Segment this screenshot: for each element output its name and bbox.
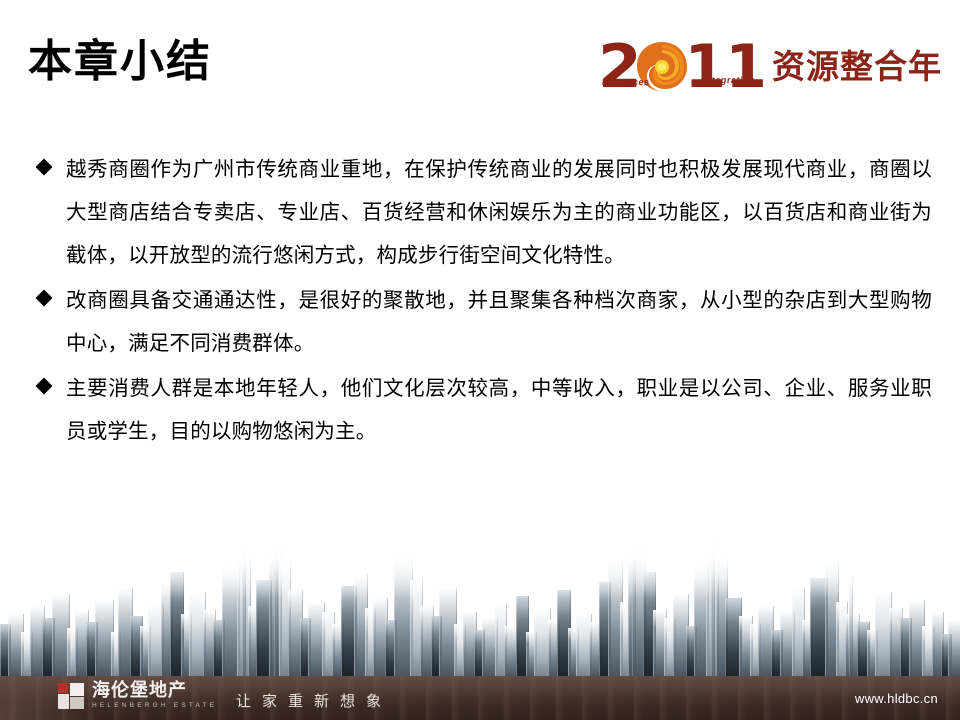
logo-digit-2: 2: [598, 37, 639, 97]
logo-word-resources: resources: [601, 77, 650, 87]
list-item: 主要消费人群是本地年轻人，他们文化层次较高，中等收入，职业是以公司、企业、服务业…: [36, 367, 932, 453]
list-item: 越秀商圈作为广州市传统商业重地，在保护传统商业的发展同时也积极发展现代商业，商圈…: [36, 148, 932, 277]
logo-digits-11: 11: [685, 37, 767, 97]
brand-mark-block-1: [58, 694, 69, 709]
diamond-bullet-icon: [36, 290, 53, 307]
brand-text: 海伦堡地产 HELENBERGH ESTATE: [92, 682, 217, 710]
page-title: 本章小结: [28, 38, 212, 86]
list-item: 改商圈具备交通通达性，是很好的聚散地，并且聚集各种档次商家，从小型的杂店到大型购…: [36, 279, 932, 365]
bullet-list: 越秀商圈作为广州市传统商业重地，在保护传统商业的发展同时也积极发展现代商业，商圈…: [36, 148, 932, 455]
list-item-text: 改商圈具备交通通达性，是很好的聚散地，并且聚集各种档次商家，从小型的杂店到大型购…: [66, 288, 932, 355]
city-skyline-image: [0, 536, 960, 676]
slide-canvas: 本章小结 2 11 resources integration: [0, 0, 960, 720]
helenbergh-mark-icon: [58, 683, 84, 709]
brand-name-en: HELENBERGH ESTATE: [92, 703, 217, 710]
diamond-bullet-icon: [36, 159, 53, 176]
footer-slogan: 让家重新想象: [236, 690, 392, 711]
logo-chinese-text: 资源整合年: [772, 50, 942, 85]
brand-mark-block-3: [70, 697, 84, 709]
logo-2011-resource-integration: 2 11 resources integration 资源整合年: [599, 36, 942, 98]
brand-mark-red-square: [58, 683, 68, 693]
list-item-text: 主要消费人群是本地年轻人，他们文化层次较高，中等收入，职业是以公司、企业、服务业…: [66, 376, 932, 443]
logo-word-integration: integration: [702, 75, 755, 85]
list-item-text: 越秀商圈作为广州市传统商业重地，在保护传统商业的发展同时也积极发展现代商业，商圈…: [66, 157, 932, 267]
brand-name-cn: 海伦堡地产: [92, 682, 217, 700]
brand-mark-block-2: [70, 683, 84, 696]
diamond-bullet-icon: [36, 378, 53, 395]
brand-logo: 海伦堡地产 HELENBERGH ESTATE: [58, 682, 217, 710]
logo-digits: 2 11 resources integration: [599, 36, 766, 98]
footer-bar: 海伦堡地产 HELENBERGH ESTATE 让家重新想象 www.hldbc…: [0, 676, 960, 720]
footer-website-url[interactable]: www.hldbc.cn: [855, 691, 938, 706]
